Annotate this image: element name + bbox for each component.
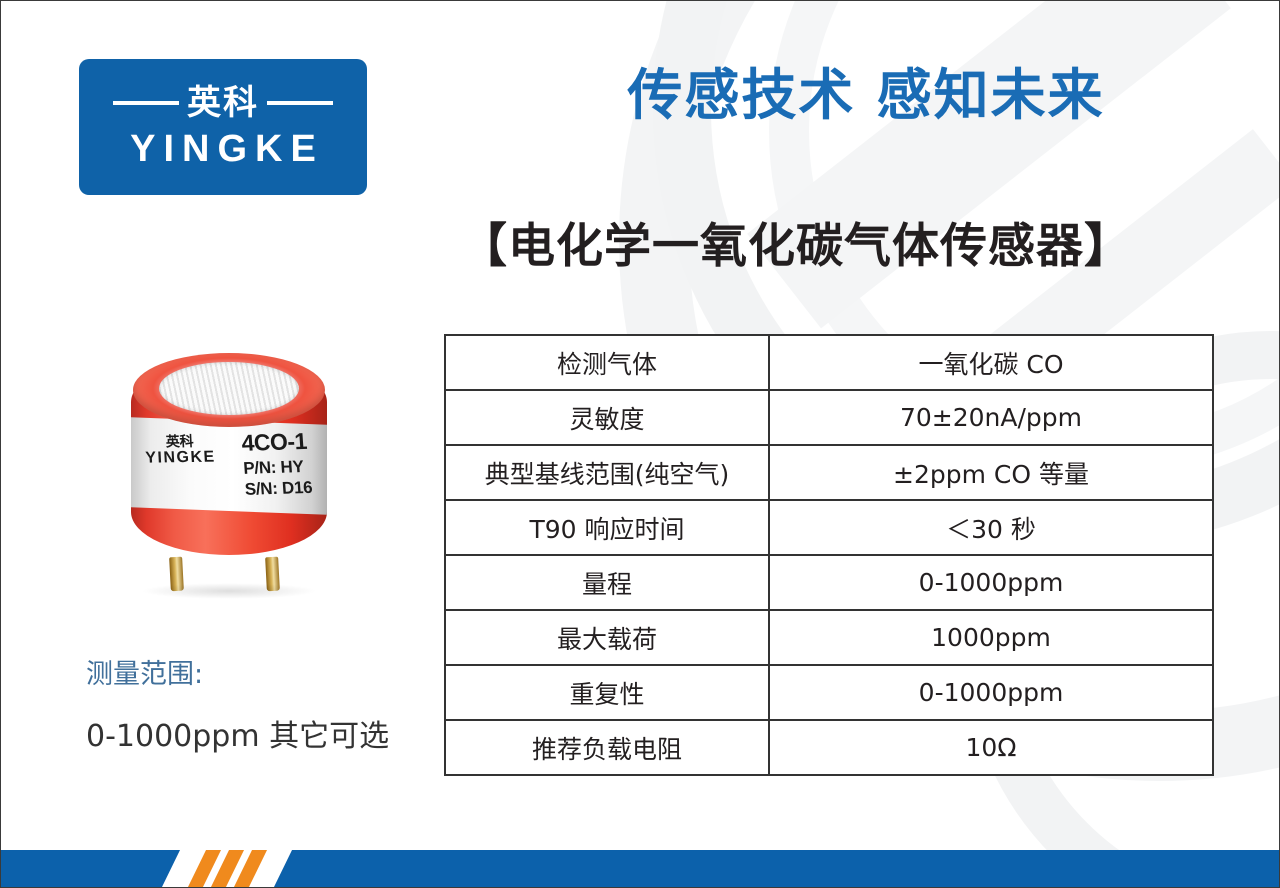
brand-logo: 英科 YINGKE: [79, 59, 367, 195]
footer-bar: [1, 850, 1280, 887]
spec-label: T90 响应时间: [445, 500, 769, 555]
spec-value: 70±20nA/ppm: [769, 390, 1213, 445]
sensor-label-wrap: 英科 YINGKE 4CO-1 P/N: HY S/N: D16: [131, 417, 327, 515]
measurement-range-label: 测量范围:: [86, 659, 203, 691]
table-row: T90 响应时间 ＜30 秒: [445, 500, 1213, 555]
sensor-label-brand-en: YINGKE: [145, 449, 216, 467]
footer-stripe-group-icon: [162, 850, 292, 887]
sensor-label-brand: 英科 YINGKE: [144, 435, 216, 467]
sensor-model-text: 4CO-1: [241, 426, 327, 458]
spec-label: 检测气体: [445, 335, 769, 390]
logo-rule-left-icon: [113, 101, 179, 105]
spec-sheet-page: 英科 YINGKE 传感技术 感知未来 【电化学一氧化碳气体传感器】 英科 YI…: [0, 0, 1280, 888]
spec-value: 一氧化碳 CO: [769, 335, 1213, 390]
spec-label: 灵敏度: [445, 390, 769, 445]
spec-value: ±2ppm CO 等量: [769, 445, 1213, 500]
specification-table-body: 检测气体 一氧化碳 CO 灵敏度 70±20nA/ppm 典型基线范围(纯空气)…: [445, 335, 1213, 775]
spec-value: 10Ω: [769, 720, 1213, 775]
spec-label: 重复性: [445, 665, 769, 720]
spec-label: 量程: [445, 555, 769, 610]
logo-english-name: YINGKE: [122, 130, 324, 168]
logo-cn-row: 英科: [79, 86, 367, 120]
decorative-diagonal-band-1: [747, 1, 1231, 328]
sensor-label-codes: 4CO-1 P/N: HY S/N: D16: [241, 426, 327, 500]
specification-table: 检测气体 一氧化碳 CO 灵敏度 70±20nA/ppm 典型基线范围(纯空气)…: [444, 334, 1214, 776]
spec-label: 典型基线范围(纯空气): [445, 445, 769, 500]
spec-label: 最大载荷: [445, 610, 769, 665]
table-row: 重复性 0-1000ppm: [445, 665, 1213, 720]
spec-label: 推荐负载电阻: [445, 720, 769, 775]
sensor-drop-shadow: [141, 583, 317, 599]
table-row: 量程 0-1000ppm: [445, 555, 1213, 610]
table-row: 灵敏度 70±20nA/ppm: [445, 390, 1213, 445]
sensor-serial-number-text: S/N: D16: [244, 476, 327, 500]
measurement-range-value: 0-1000ppm 其它可选: [86, 719, 389, 755]
product-photo: 英科 YINGKE 4CO-1 P/N: HY S/N: D16: [123, 353, 343, 603]
logo-chinese-name: 英科: [187, 86, 259, 120]
logo-rule-right-icon: [267, 101, 333, 105]
spec-value: ＜30 秒: [769, 500, 1213, 555]
page-title: 【电化学一氧化碳气体传感器】: [401, 219, 1191, 275]
table-row: 最大载荷 1000ppm: [445, 610, 1213, 665]
sensor-mesh-filter: [159, 362, 299, 415]
brand-tagline: 传感技术 感知未来: [581, 63, 1151, 128]
spec-value: 0-1000ppm: [769, 665, 1213, 720]
table-row: 检测气体 一氧化碳 CO: [445, 335, 1213, 390]
sensor-part-number-text: P/N: HY: [243, 455, 327, 479]
spec-value: 1000ppm: [769, 610, 1213, 665]
sensor-top-face: [133, 353, 325, 427]
spec-value: 0-1000ppm: [769, 555, 1213, 610]
table-row: 典型基线范围(纯空气) ±2ppm CO 等量: [445, 445, 1213, 500]
table-row: 推荐负载电阻 10Ω: [445, 720, 1213, 775]
